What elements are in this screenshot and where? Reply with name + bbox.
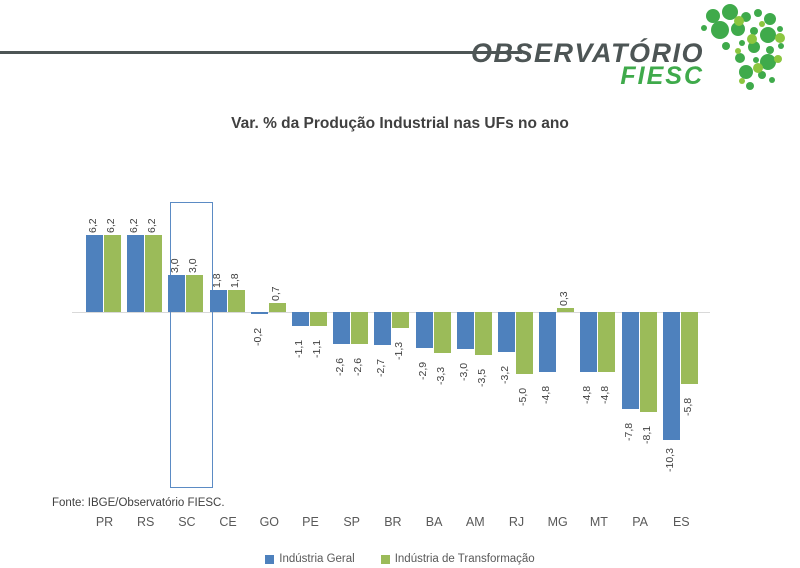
category-label-sp: SP xyxy=(331,515,372,529)
bar-br-transformacao[interactable] xyxy=(392,312,409,328)
bar-pe-geral[interactable] xyxy=(292,312,309,326)
chart-legend: Indústria Geral Indústria de Transformaç… xyxy=(0,550,800,568)
category-label-pa: PA xyxy=(620,515,661,529)
bar-pa-geral[interactable] xyxy=(622,312,639,409)
data-label-mg-geral: -4,8 xyxy=(541,374,552,404)
header-divider-rule xyxy=(0,51,522,54)
bar-mt-transformacao[interactable] xyxy=(598,312,615,372)
legend-item-industria-geral[interactable]: Indústria Geral xyxy=(265,553,354,565)
bar-ce-transformacao[interactable] xyxy=(228,290,245,312)
data-label-sc-transformacao: 3,0 xyxy=(188,243,199,273)
legend-label-industria-transformacao: Indústria de Transformação xyxy=(395,553,535,565)
data-label-ce-transformacao: 1,8 xyxy=(230,258,241,288)
bar-sc-geral[interactable] xyxy=(168,275,185,312)
data-label-ce-geral: 1,8 xyxy=(212,258,223,288)
legend-item-industria-transformacao[interactable]: Indústria de Transformação xyxy=(381,553,535,565)
bar-mt-geral[interactable] xyxy=(580,312,597,372)
chart-plot-area: 6,26,26,26,23,03,01,81,8-0,20,7-1,1-1,1-… xyxy=(0,140,800,450)
legend-swatch-industria-transformacao xyxy=(381,555,390,564)
data-label-rj-geral: -3,2 xyxy=(500,354,511,384)
data-label-mt-geral: -4,8 xyxy=(582,374,593,404)
category-label-mg: MG xyxy=(537,515,578,529)
data-label-ba-geral: -2,9 xyxy=(418,350,429,380)
category-label-mt: MT xyxy=(578,515,619,529)
category-label-pr: PR xyxy=(84,515,125,529)
data-label-mg-transformacao: 0,3 xyxy=(559,276,570,306)
bar-rj-geral[interactable] xyxy=(498,312,515,352)
legend-label-industria-geral: Indústria Geral xyxy=(279,553,354,565)
data-label-am-transformacao: -3,5 xyxy=(477,357,488,387)
data-label-am-geral: -3,0 xyxy=(459,351,470,381)
bar-es-geral[interactable] xyxy=(663,312,680,440)
category-label-br: BR xyxy=(372,515,413,529)
source-note: Fonte: IBGE/Observatório FIESC. xyxy=(52,497,225,509)
bar-rs-transformacao[interactable] xyxy=(145,235,162,312)
bar-ce-geral[interactable] xyxy=(210,290,227,312)
observatorio-fiesc-logo: OBSERVATÓRIO FIESC xyxy=(492,2,792,94)
data-label-pr-transformacao: 6,2 xyxy=(106,203,117,233)
bar-pa-transformacao[interactable] xyxy=(640,312,657,412)
logo-wordmark: OBSERVATÓRIO FIESC xyxy=(471,40,704,89)
data-label-sp-geral: -2,6 xyxy=(335,346,346,376)
data-label-rs-geral: 6,2 xyxy=(129,203,140,233)
bar-br-geral[interactable] xyxy=(374,312,391,345)
bar-es-transformacao[interactable] xyxy=(681,312,698,384)
category-axis: PRRSSCCEGOPESPBRBAAMRJMGMTPAES xyxy=(0,515,800,535)
data-label-pe-geral: -1,1 xyxy=(294,328,305,358)
bar-pe-transformacao[interactable] xyxy=(310,312,327,326)
bar-sp-geral[interactable] xyxy=(333,312,350,344)
data-label-mt-transformacao: -4,8 xyxy=(600,374,611,404)
bar-mg-geral[interactable] xyxy=(539,312,556,372)
bar-pr-transformacao[interactable] xyxy=(104,235,121,312)
bar-ba-transformacao[interactable] xyxy=(434,312,451,353)
bar-rs-geral[interactable] xyxy=(127,235,144,312)
legend-swatch-industria-geral xyxy=(265,555,274,564)
data-label-pa-geral: -7,8 xyxy=(624,411,635,441)
data-label-pe-transformacao: -1,1 xyxy=(312,328,323,358)
category-label-rs: RS xyxy=(125,515,166,529)
page-header: OBSERVATÓRIO FIESC xyxy=(0,0,800,95)
category-label-pe: PE xyxy=(290,515,331,529)
data-label-go-transformacao: 0,7 xyxy=(271,271,282,301)
category-label-am: AM xyxy=(455,515,496,529)
category-label-go: GO xyxy=(249,515,290,529)
data-label-br-geral: -2,7 xyxy=(376,347,387,377)
category-label-ba: BA xyxy=(414,515,455,529)
data-label-sp-transformacao: -2,6 xyxy=(353,346,364,376)
data-label-es-geral: -10,3 xyxy=(665,442,676,472)
data-label-rs-transformacao: 6,2 xyxy=(147,203,158,233)
data-label-ba-transformacao: -3,3 xyxy=(436,355,447,385)
category-label-ce: CE xyxy=(208,515,249,529)
data-label-br-transformacao: -1,3 xyxy=(394,330,405,360)
bar-pr-geral[interactable] xyxy=(86,235,103,312)
bar-go-geral[interactable] xyxy=(251,312,268,314)
bar-mg-transformacao[interactable] xyxy=(557,308,574,312)
data-label-rj-transformacao: -5,0 xyxy=(518,376,529,406)
category-label-sc: SC xyxy=(166,515,207,529)
chart-container: Var. % da Produção Industrial nas UFs no… xyxy=(0,95,800,490)
data-label-go-geral: -0,2 xyxy=(253,316,264,346)
bar-rj-transformacao[interactable] xyxy=(516,312,533,374)
bar-am-geral[interactable] xyxy=(457,312,474,349)
bar-am-transformacao[interactable] xyxy=(475,312,492,355)
chart-title: Var. % da Produção Industrial nas UFs no… xyxy=(0,115,800,133)
bar-sc-transformacao[interactable] xyxy=(186,275,203,312)
category-label-rj: RJ xyxy=(496,515,537,529)
data-label-pr-geral: 6,2 xyxy=(88,203,99,233)
data-label-es-transformacao: -5,8 xyxy=(683,386,694,416)
data-label-sc-geral: 3,0 xyxy=(170,243,181,273)
category-label-es: ES xyxy=(661,515,702,529)
data-label-pa-transformacao: -8,1 xyxy=(642,414,653,444)
bar-sp-transformacao[interactable] xyxy=(351,312,368,344)
bar-ba-geral[interactable] xyxy=(416,312,433,348)
bar-go-transformacao[interactable] xyxy=(269,303,286,312)
